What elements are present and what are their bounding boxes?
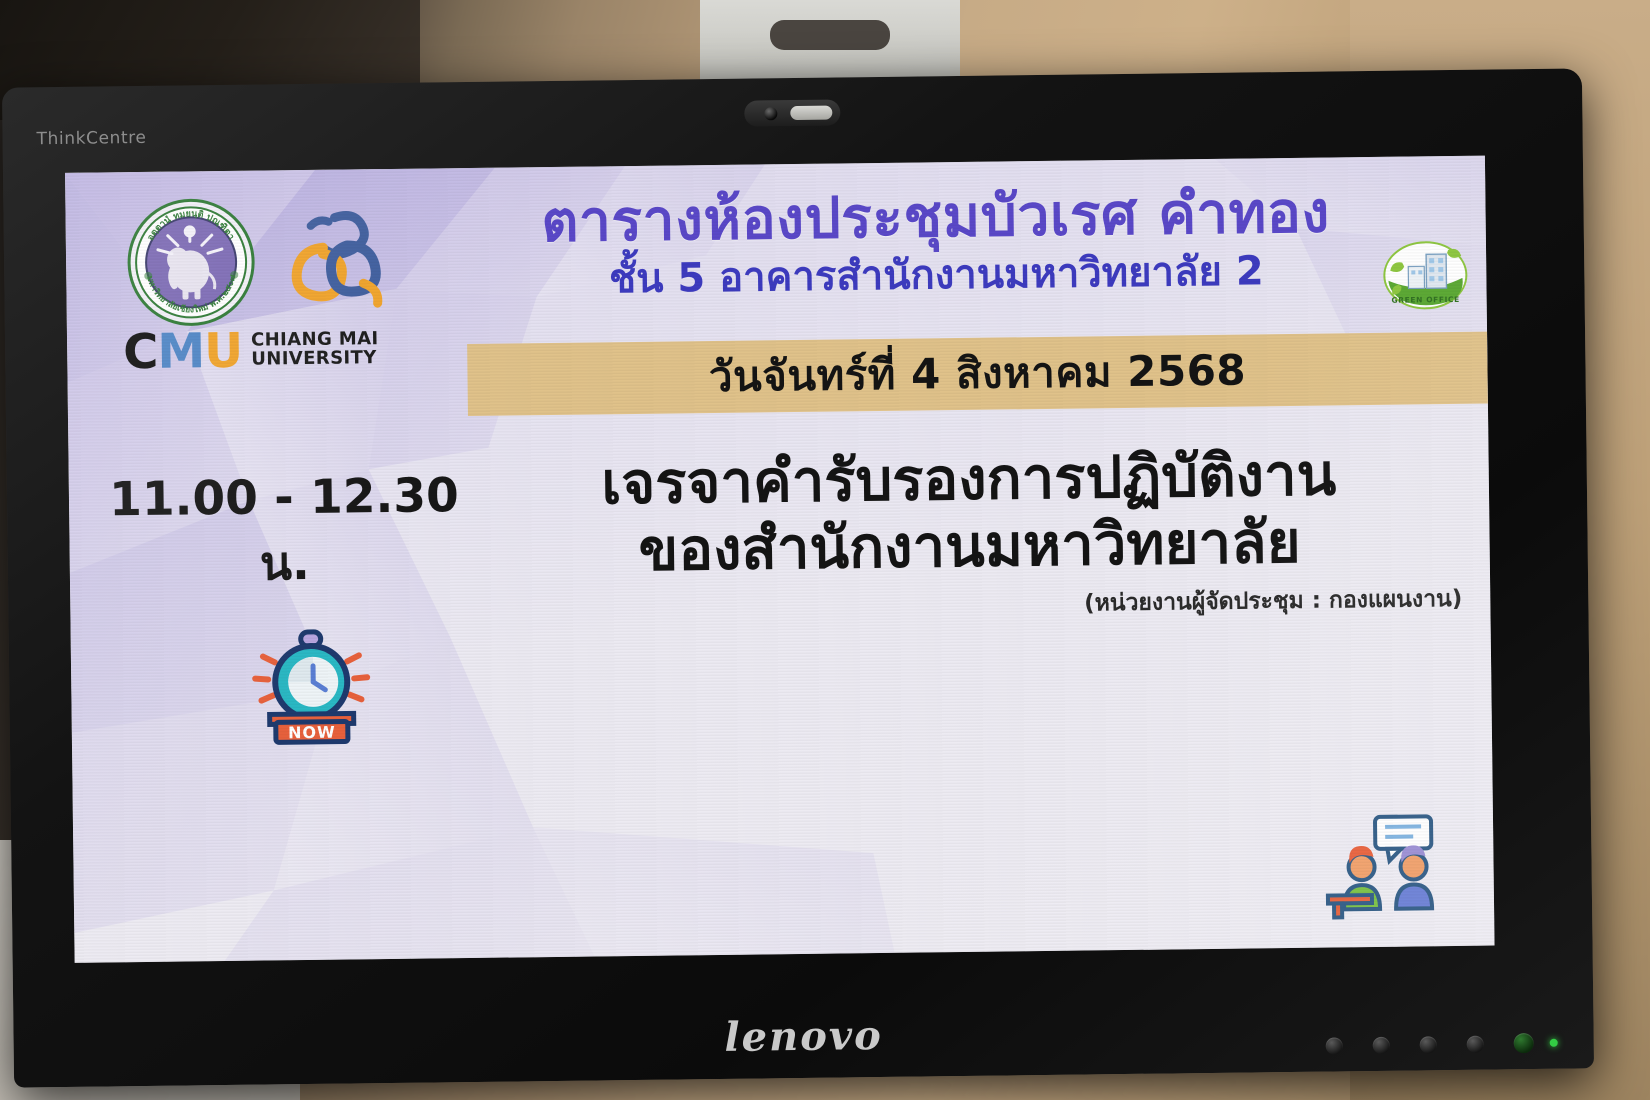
entry-details: เจรจาคำรับรองการปฏิบัติงาน ของสำนักงานมห… <box>468 440 1470 629</box>
cmu-name-line2: UNIVERSITY <box>251 349 379 369</box>
slide-header: ตารางห้องประชุมบัวเรศ คำทอง ชั้น 5 อาคาร… <box>405 180 1466 305</box>
presentation-slide: อตฺตานํ ทมยนฺติ ปณฺฑิตา มหาวิทยาลัยเชียง… <box>65 156 1495 963</box>
cmu-letter-u: U <box>204 323 243 379</box>
plus-button[interactable] <box>1420 1036 1437 1053</box>
entry-title-line1: เจรจาคำรับรองการปฏิบัติงาน <box>468 440 1469 519</box>
meeting-discussion-icon <box>1323 808 1454 920</box>
lenovo-logo: lenovo <box>724 1012 883 1061</box>
monitor-button-row[interactable] <box>1326 1033 1534 1056</box>
lenovo-thinkcentre-monitor: ThinkCentre <box>2 68 1594 1087</box>
webcam-lens-icon <box>764 107 777 120</box>
cmu-seal-icon: อตฺตานํ ทมยนฺติ ปณฺฑิตา มหาวิทยาลัยเชียง… <box>125 197 257 329</box>
minus-button[interactable] <box>1373 1036 1390 1053</box>
monitor-screen: อตฺตานํ ทมยนฺติ ปณฺฑิตา มหาวิทยาลัยเชียง… <box>65 156 1495 963</box>
page-title: ตารางห้องประชุมบัวเรศ คำทอง <box>405 180 1466 257</box>
entry-time: 11.00 - 12.30 น. <box>99 468 471 603</box>
green-office-badge-icon: GREEN OFFICE <box>1382 240 1469 311</box>
cmu-letter-c: C <box>123 324 158 380</box>
menu-button[interactable] <box>1326 1037 1343 1054</box>
anniversary-60-icon <box>276 209 392 318</box>
svg-text:GREEN OFFICE: GREEN OFFICE <box>1391 295 1459 305</box>
date-text: วันจันทร์ที่ 4 สิงหาคม 2568 <box>709 338 1247 411</box>
webcam-privacy-slider[interactable] <box>790 106 832 121</box>
cmu-wordmark: CMU CHIANG MAI UNIVERSITY <box>123 325 379 376</box>
alarm-clock-now-icon: NOW <box>240 619 382 746</box>
cmu-acronym: CMU <box>123 327 243 376</box>
cmu-university-name: CHIANG MAI UNIVERSITY <box>251 330 379 369</box>
power-button[interactable] <box>1514 1033 1534 1053</box>
input-button[interactable] <box>1467 1035 1484 1052</box>
entry-title-line2: ของสำนักงานมหาวิทยาลัย <box>469 507 1470 586</box>
power-led-indicator <box>1550 1039 1558 1047</box>
webcam <box>744 99 840 126</box>
room-lamp-neck <box>770 20 890 50</box>
date-banner: วันจันทร์ที่ 4 สิงหาคม 2568 <box>467 332 1488 416</box>
now-label: NOW <box>288 723 336 743</box>
thinkcentre-logo: ThinkCentre <box>36 128 146 149</box>
cmu-letter-m: M <box>157 323 204 380</box>
